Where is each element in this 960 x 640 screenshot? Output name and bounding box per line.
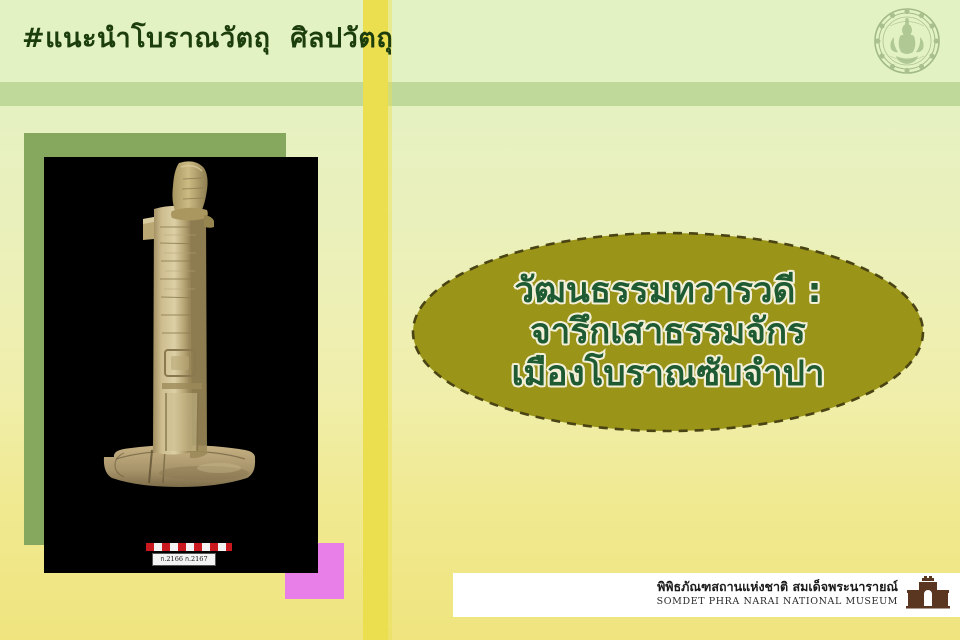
green-divider-stripe xyxy=(0,82,960,106)
museum-gate-icon xyxy=(906,576,950,610)
hashtag-text: #แนะนำโบราณวัตถุ ศิลปวัตถุ xyxy=(22,22,393,56)
accent-column-thin xyxy=(388,0,392,640)
fine-arts-department-seal-icon xyxy=(872,6,942,76)
museum-logo-content: พิพิธภัณฑสถานแห่งชาติ สมเด็จพระนารายณ์ S… xyxy=(657,576,950,610)
artifact-catalog-label: ก.2166 ก.2167 xyxy=(152,553,216,566)
accent-column xyxy=(363,0,388,640)
museum-logo-text: พิพิธภัณฑสถานแห่งชาติ สมเด็จพระนารายณ์ S… xyxy=(657,579,898,607)
slide-canvas: #แนะนำโบราณวัตถุ ศิลปวัตถุ xyxy=(0,0,960,640)
title-ellipse-shape xyxy=(410,230,926,434)
museum-name-en: SOMDET PHRA NARAI NATIONAL MUSEUM xyxy=(657,596,898,607)
artifact-photo xyxy=(44,157,318,573)
photo-scale-bar xyxy=(146,543,232,551)
museum-logo-bar: พิพิธภัณฑสถานแห่งชาติ สมเด็จพระนารายณ์ S… xyxy=(453,573,960,617)
museum-name-th: พิพิธภัณฑสถานแห่งชาติ สมเด็จพระนารายณ์ xyxy=(657,579,898,596)
